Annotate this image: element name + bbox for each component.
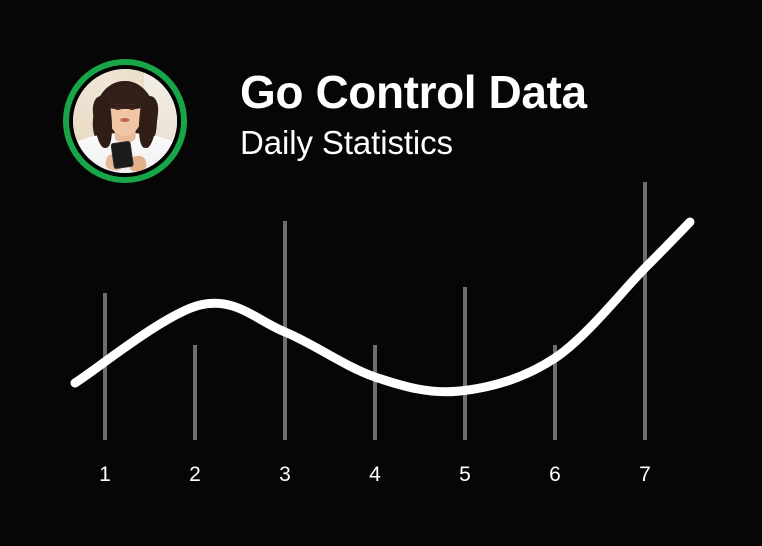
trend-line: [75, 222, 690, 392]
x-axis-label-2: 2: [189, 462, 201, 488]
statistics-card: Go Control Data Daily Statistics 1234567: [0, 0, 762, 546]
x-axis-label-5: 5: [459, 462, 471, 488]
x-axis-label-6: 6: [549, 462, 561, 488]
x-axis-label-1: 1: [99, 462, 111, 488]
x-axis-label-7: 7: [639, 462, 651, 488]
x-axis-labels: 1234567: [0, 462, 762, 496]
x-axis-label-4: 4: [369, 462, 381, 488]
x-axis-label-3: 3: [279, 462, 291, 488]
